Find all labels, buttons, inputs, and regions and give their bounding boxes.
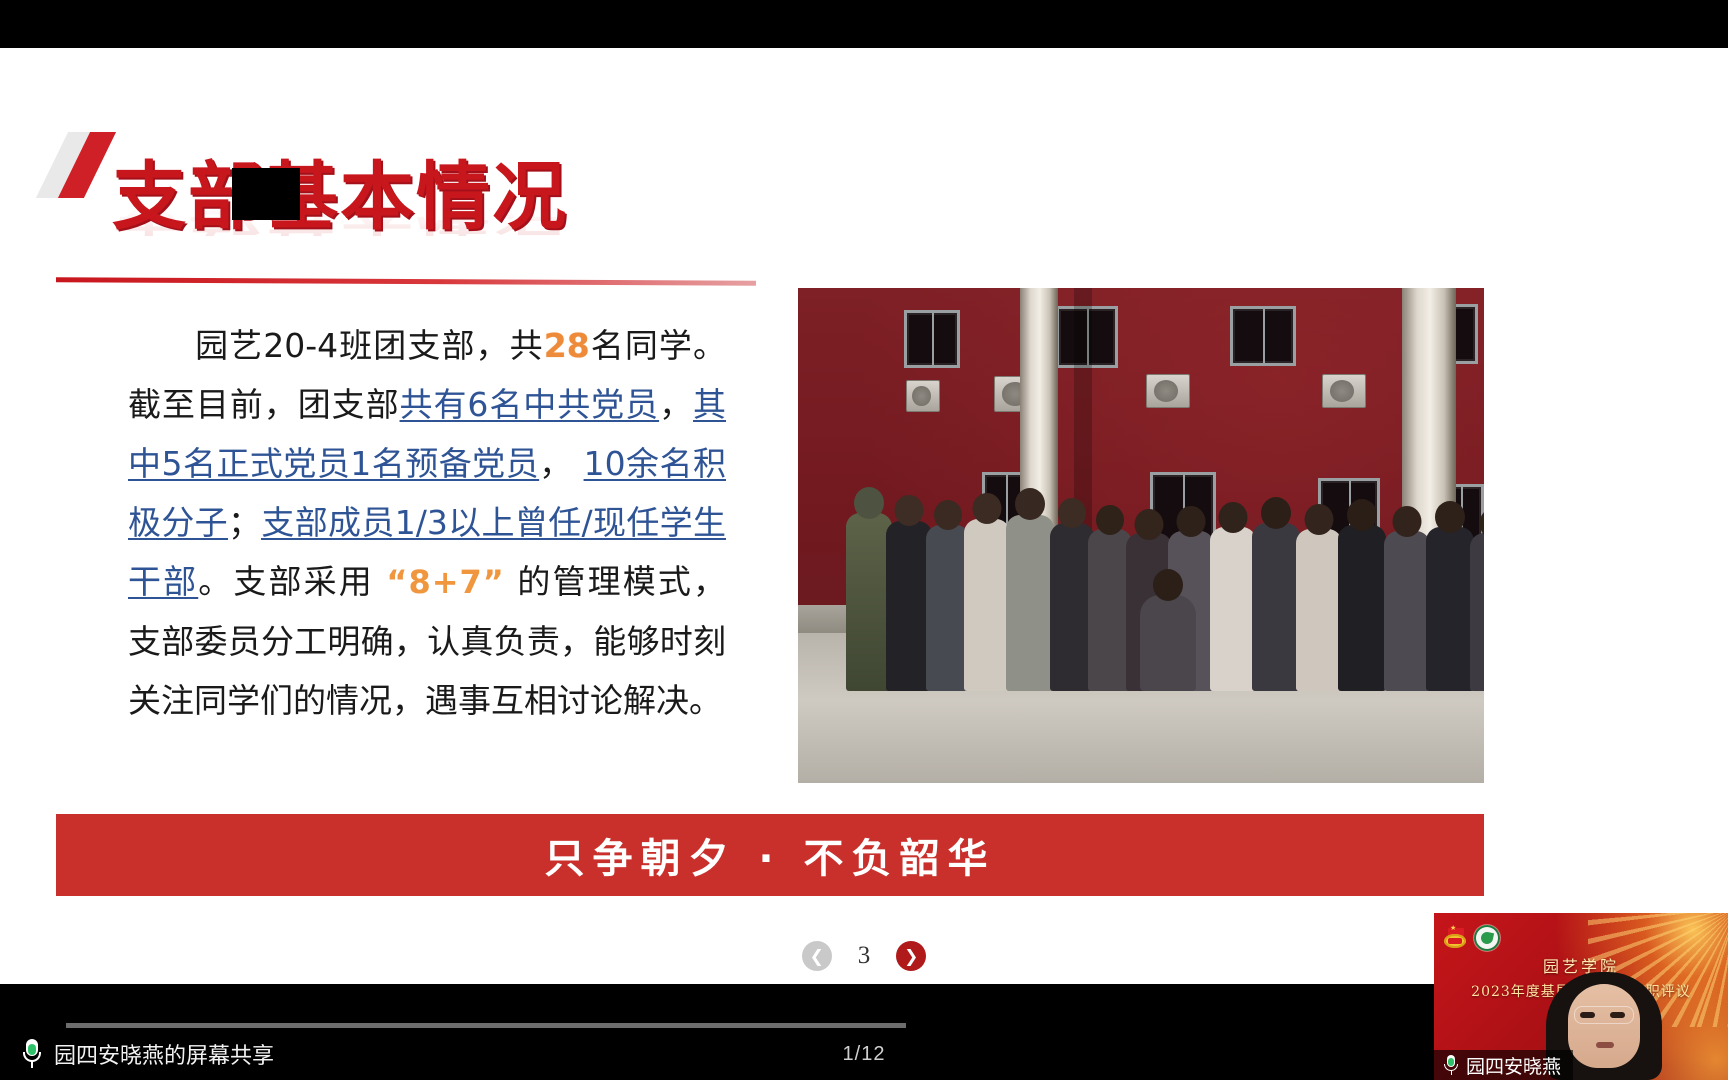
previous-slide-button[interactable]: ❮	[802, 941, 832, 971]
microphone-icon[interactable]	[22, 1039, 42, 1069]
microphone-icon[interactable]	[1444, 1055, 1458, 1076]
management-model-tag: “8+7”	[386, 563, 504, 601]
slash-logo-icon	[44, 132, 120, 200]
page-title-reflection: 支部基本情况	[112, 195, 568, 236]
top-black-bar	[0, 0, 1728, 48]
communist-youth-league-emblem-icon	[1444, 928, 1466, 948]
university-seal-icon	[1474, 925, 1500, 951]
member-count-number: 28	[544, 326, 590, 365]
body-paragraph: 园艺20-4班团支部，共园艺20-4班团支部，共28名同学。截至目前，团支部共有…	[128, 316, 726, 730]
chevron-left-icon: ❮	[810, 948, 824, 965]
screen-share-window: 支部基本情况 支部基本情况 园艺20-4班团支部，共园艺20-4班团支部，共28…	[0, 0, 1728, 1080]
next-slide-button[interactable]: ❯	[896, 941, 926, 971]
black-redaction-box	[232, 168, 300, 220]
current-page-number: 3	[858, 942, 871, 970]
participant-name: 园四安晓燕	[1466, 1052, 1561, 1079]
highlight-party-members: 共有6名中共党员	[400, 385, 660, 424]
chevron-right-icon: ❯	[904, 948, 918, 965]
slogan-text: 只争朝夕 · 不负韶华	[544, 826, 995, 884]
slogan-banner: 只争朝夕 · 不负韶华	[56, 814, 1484, 896]
class-group-photo	[798, 288, 1484, 783]
participant-name-bar: 园四安晓燕	[1434, 1050, 1573, 1080]
slide-title-block: 支部基本情况 支部基本情况	[112, 160, 568, 310]
presentation-slide: 支部基本情况 支部基本情况 园艺20-4班团支部，共园艺20-4班团支部，共28…	[0, 48, 1728, 928]
participant-video-thumbnail[interactable]: 园艺学院 2023年度基层 记述职评议 园四安晓燕	[1434, 913, 1728, 1080]
